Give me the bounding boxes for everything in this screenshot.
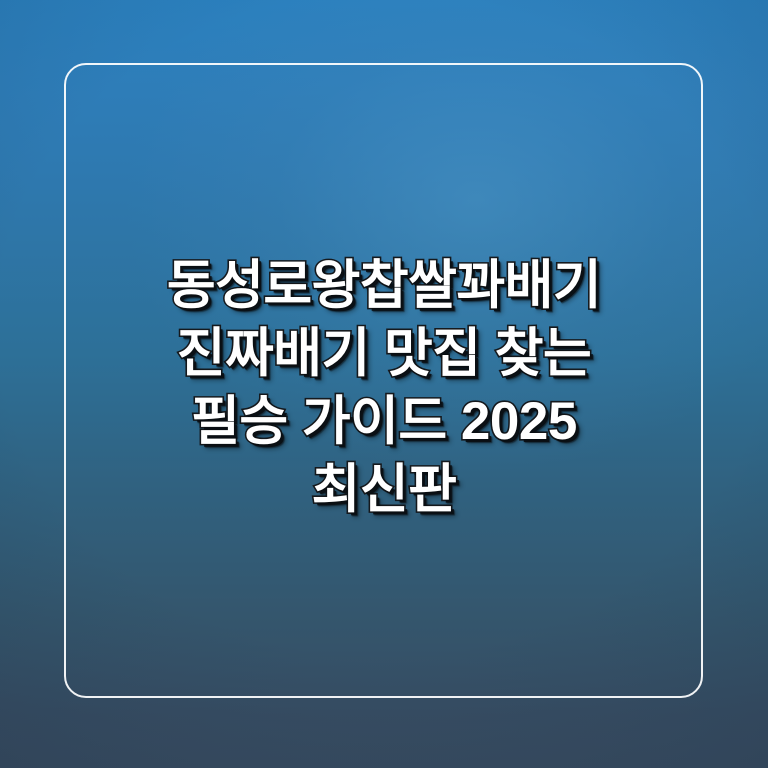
headline-line-3: 필승 가이드 2025 <box>0 388 768 456</box>
headline-line-1: 동성로왕찹쌀꽈배기 <box>0 252 768 320</box>
headline-block: 동성로왕찹쌀꽈배기 진짜배기 맛집 찾는 필승 가이드 2025 최신판 <box>0 252 768 524</box>
headline-line-2: 진짜배기 맛집 찾는 <box>0 320 768 388</box>
headline-line-4: 최신판 <box>0 456 768 524</box>
thumbnail-canvas: 동성로왕찹쌀꽈배기 진짜배기 맛집 찾는 필승 가이드 2025 최신판 <box>0 0 768 768</box>
